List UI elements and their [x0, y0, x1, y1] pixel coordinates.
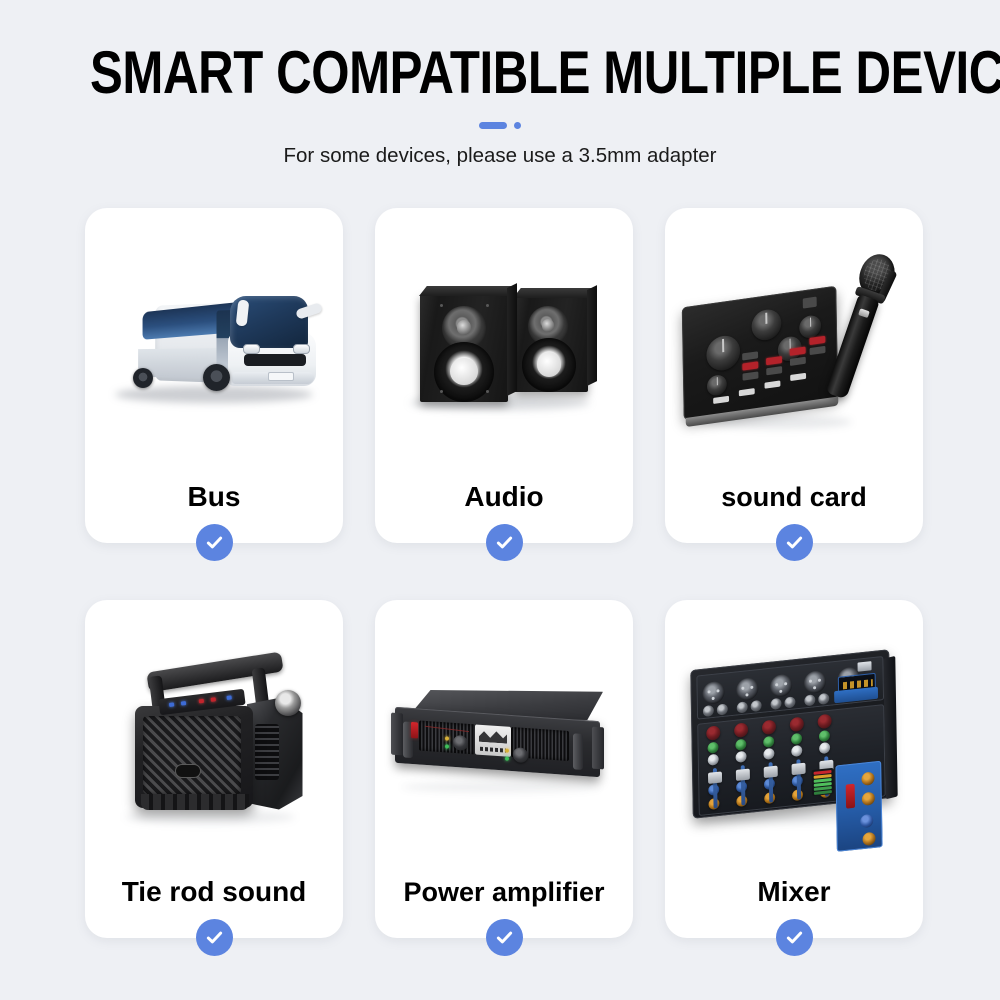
mixer-eq-mid: [763, 747, 774, 759]
sound-card-port: [802, 297, 816, 309]
mixer-fader-cap: [707, 771, 721, 784]
mixer-channel-strip: [701, 722, 728, 813]
sound-card-button: [764, 380, 780, 388]
device-card-audio[interactable]: Audio: [375, 208, 633, 543]
trolley-speaker-logo: [175, 764, 201, 778]
mixer-master-knob: [861, 791, 874, 805]
bus-headlight-right: [293, 344, 310, 354]
mixer-line-jack: [804, 694, 815, 706]
check-circle-icon-audio: [486, 524, 523, 561]
woofer-cone: [537, 352, 562, 377]
sound-card-button: [742, 351, 758, 360]
amplifier-model-text: [480, 747, 506, 753]
mixer-line-jack: [702, 704, 713, 716]
speaker-screw: [486, 390, 489, 393]
amplifier-gain-knob-right: [513, 747, 528, 763]
sound-card-button: [742, 371, 758, 380]
divider-dot-icon: [514, 122, 521, 129]
trolley-speaker-base: [141, 794, 249, 810]
mixer-line-jack: [770, 697, 781, 709]
mixer-fader-cap: [735, 768, 749, 781]
sound-card-button: [809, 336, 825, 345]
mixer-eq-high: [763, 735, 774, 747]
amplifier-led-clip: [505, 749, 509, 753]
mixer-fader-cap: [763, 765, 777, 778]
device-card-mixer[interactable]: Mixer: [665, 600, 923, 938]
mixer-master-fader: [845, 783, 854, 808]
device-card-bus[interactable]: Bus: [85, 208, 343, 543]
amplifier-led-clip: [445, 736, 449, 740]
mixer-led-meter: [811, 767, 833, 795]
sound-card-button: [789, 347, 805, 356]
woofer-cone: [450, 358, 478, 386]
mixer-eq-mid: [819, 741, 830, 753]
page-header: SMART COMPATIBLE MULTIPLE DEVICES For so…: [0, 0, 1000, 168]
page-title: SMART COMPATIBLE MULTIPLE DEVICES: [90, 42, 910, 104]
amplifier-power-switch: [411, 722, 418, 738]
trolley-speaker-tweeter: [275, 690, 301, 716]
sound-card-board: [681, 286, 837, 421]
speaker-left-top: [419, 286, 515, 296]
mixer-eq-mid: [707, 753, 718, 765]
mixer-gain-knob: [761, 719, 775, 735]
mixer-gain-knob: [789, 716, 803, 732]
mixer-channel-strip: [756, 716, 783, 807]
mixer-channel-strip: [729, 719, 756, 810]
mixer-line-jack: [736, 701, 747, 713]
amplifier-led-signal: [505, 757, 509, 761]
mixer-channel-strip: [784, 713, 811, 804]
mixer-line-jack: [716, 703, 727, 715]
mixer-eq-high: [735, 738, 746, 750]
device-card-power-amplifier[interactable]: Power amplifier: [375, 600, 633, 938]
sound-card-knob-mic: [751, 308, 781, 342]
trolley-speaker-led: [198, 698, 203, 703]
mixer-usb-port: [857, 661, 871, 671]
amplifier-gain-knob-left: [453, 735, 468, 751]
sound-card-button: [766, 356, 782, 365]
mixer-eq-high: [707, 741, 718, 753]
device-card-grid: Bus: [85, 208, 915, 938]
check-circle-icon-power-amplifier: [486, 919, 523, 956]
speaker-left-side: [507, 283, 517, 396]
speaker-right-top: [513, 288, 595, 298]
divider-decoration: [0, 120, 1000, 130]
divider-bar-icon: [479, 122, 507, 129]
mixer-master-knob: [861, 771, 874, 785]
mixer-xlr-input-4: [803, 670, 825, 694]
trolley-speaker-led: [168, 702, 173, 707]
mixer-line-jack: [784, 696, 795, 708]
trolley-speaker-led: [226, 695, 231, 700]
speaker-right: [514, 296, 588, 392]
speaker-screw: [440, 304, 443, 307]
amplifier-handle-right: [573, 733, 583, 770]
mixer-xlr-input-2: [736, 677, 758, 701]
mixer-master-section: [835, 760, 882, 851]
mixer-gain-knob: [734, 722, 748, 738]
device-image-audio: [375, 208, 633, 481]
device-card-tie-rod-sound[interactable]: Tie rod sound: [85, 600, 343, 938]
trolley-speaker-shadow: [125, 810, 295, 824]
sound-card-button: [742, 361, 758, 370]
amplifier-rack-ear-right: [592, 727, 604, 770]
amplifier-rack-ear-left: [391, 713, 403, 756]
sound-card-button: [790, 373, 806, 381]
bus-headlight-left: [243, 344, 260, 354]
device-image-sound-card: [665, 208, 923, 481]
check-circle-icon-bus: [196, 524, 233, 561]
speaker-screw: [486, 304, 489, 307]
check-circle-icon-mixer: [776, 919, 813, 956]
mixer-line-jack: [818, 692, 829, 704]
device-card-sound-card[interactable]: sound card: [665, 208, 923, 543]
sound-card-button: [738, 388, 754, 396]
mixer-eq-high: [791, 732, 802, 744]
mixer-fader-cap: [791, 762, 805, 775]
sound-card-knob-reverb: [799, 314, 821, 339]
mixer-chassis: [690, 649, 891, 818]
speaker-right-woofer: [522, 338, 576, 392]
mixer-line-jack: [750, 699, 761, 711]
bus-wheel-front: [203, 364, 230, 391]
mixer-gain-knob: [817, 713, 831, 729]
mixer-eq-mid: [735, 750, 746, 762]
sound-card-knob-tone: [706, 374, 726, 397]
device-image-bus: [85, 208, 343, 481]
trolley-speaker-grille: [143, 716, 241, 794]
amplifier-brand-mark: [479, 730, 507, 744]
amplifier-led-signal: [445, 744, 449, 748]
speaker-screw: [440, 390, 443, 393]
trolley-speaker-led: [210, 697, 215, 702]
mixer-xlr-input-3: [770, 673, 792, 697]
mixer-control-surface: [697, 704, 886, 816]
speaker-left: [420, 294, 508, 402]
bus-wheel-rear: [133, 368, 153, 388]
sound-card-button: [789, 357, 805, 366]
mixer-eq-mid: [791, 744, 802, 756]
bus-mirror-left: [235, 299, 249, 326]
trolley-speaker-led: [180, 700, 185, 705]
mixer-eq-high: [818, 729, 829, 741]
mixer-effect-knob: [860, 813, 873, 827]
trolley-speaker-vent: [255, 724, 279, 780]
speaker-right-side: [587, 285, 597, 386]
page-subtitle: For some devices, please use a 3.5mm ada…: [0, 144, 1000, 168]
mixer-master-knob: [862, 831, 875, 845]
bus-grille: [244, 354, 306, 366]
amplifier-shadow: [401, 782, 601, 792]
sound-card-button: [766, 366, 782, 375]
bus-license-plate: [268, 372, 294, 381]
device-image-power-amplifier: [375, 600, 633, 876]
tweeter-dome: [457, 320, 471, 334]
check-circle-icon-tie-rod-sound: [196, 919, 233, 956]
device-image-mixer: [665, 600, 923, 876]
mixer-gain-knob: [706, 725, 720, 741]
device-image-tie-rod-sound: [85, 600, 343, 876]
sound-card-knob-volume: [706, 334, 740, 373]
tweeter-dome: [542, 319, 555, 332]
trolley-speaker-cabinet: [135, 706, 253, 808]
speaker-left-woofer: [434, 342, 494, 402]
check-circle-icon-sound-card: [776, 524, 813, 561]
mixer-xlr-input-1: [702, 680, 724, 704]
sound-card-button: [713, 396, 729, 404]
sound-card-button: [809, 346, 825, 355]
